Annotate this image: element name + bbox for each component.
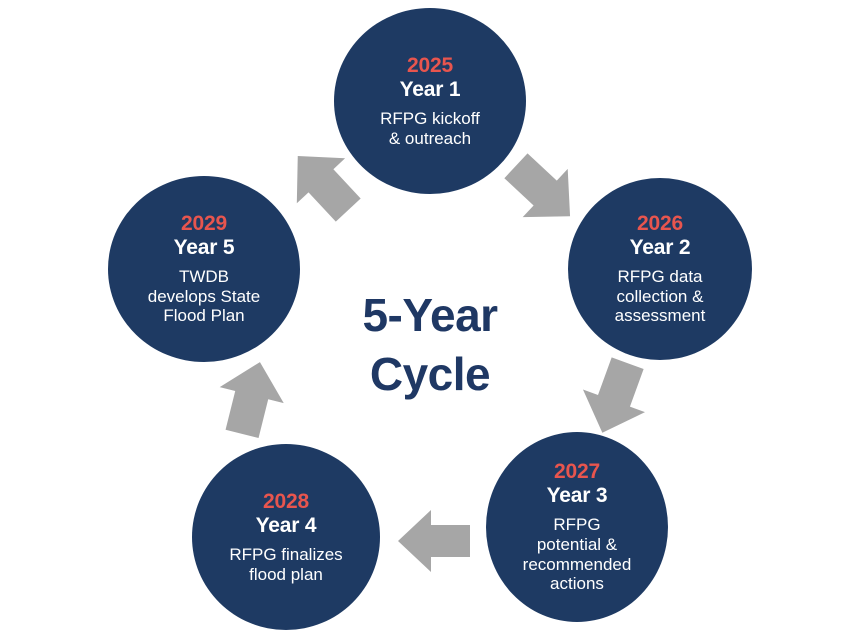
arrow-year1-to-year2-icon — [500, 150, 586, 232]
node-description-line: Flood Plan — [148, 306, 260, 326]
node-year-label: Year 5 — [174, 236, 235, 260]
node-description-line: actions — [523, 574, 632, 594]
node-description-line: recommended — [523, 555, 632, 575]
cycle-node-year4[interactable]: 2028 Year 4 RFPG finalizes flood plan — [192, 444, 380, 630]
node-description: TWDB develops State Flood Plan — [138, 267, 270, 327]
node-year-label: Year 1 — [400, 78, 461, 102]
node-description-line: TWDB — [148, 267, 260, 287]
node-year-value: 2027 — [554, 460, 600, 484]
node-description-line: assessment — [615, 306, 706, 326]
arrow-year2-to-year3-icon — [572, 356, 658, 440]
center-title-line2: Cycle — [300, 345, 560, 404]
node-description-line: RFPG — [523, 515, 632, 535]
center-title-line1: 5-Year — [300, 286, 560, 345]
node-description-line: flood plan — [229, 565, 342, 585]
node-year-label: Year 3 — [547, 484, 608, 508]
node-description-line: RFPG finalizes — [229, 545, 342, 565]
node-year-label: Year 4 — [256, 514, 317, 538]
node-description-line: potential & — [523, 535, 632, 555]
node-description-line: RFPG kickoff — [380, 109, 480, 129]
cycle-node-year2[interactable]: 2026 Year 2 RFPG data collection & asses… — [568, 178, 752, 360]
node-description-line: & outreach — [380, 129, 480, 149]
arrow-year4-to-year5-icon — [208, 356, 294, 440]
node-description-line: collection & — [615, 287, 706, 307]
center-title: 5-Year Cycle — [300, 286, 560, 404]
cycle-diagram-canvas: 2025 Year 1 RFPG kickoff & outreach 2026… — [0, 0, 843, 636]
node-description: RFPG data collection & assessment — [605, 267, 716, 327]
node-description: RFPG kickoff & outreach — [370, 109, 490, 149]
arrow-year5-to-year1-icon — [280, 142, 366, 224]
node-description-line: RFPG data — [615, 267, 706, 287]
node-year-value: 2026 — [637, 212, 683, 236]
node-year-value: 2028 — [263, 490, 309, 514]
node-description: RFPG potential & recommended actions — [513, 515, 642, 595]
node-year-value: 2029 — [181, 212, 227, 236]
node-year-label: Year 2 — [630, 236, 691, 260]
arrow-year3-to-year4-icon — [392, 502, 476, 580]
cycle-node-year3[interactable]: 2027 Year 3 RFPG potential & recommended… — [486, 432, 668, 622]
node-description: RFPG finalizes flood plan — [219, 545, 352, 585]
node-description-line: develops State — [148, 287, 260, 307]
node-year-value: 2025 — [407, 54, 453, 78]
cycle-node-year5[interactable]: 2029 Year 5 TWDB develops State Flood Pl… — [108, 176, 300, 362]
